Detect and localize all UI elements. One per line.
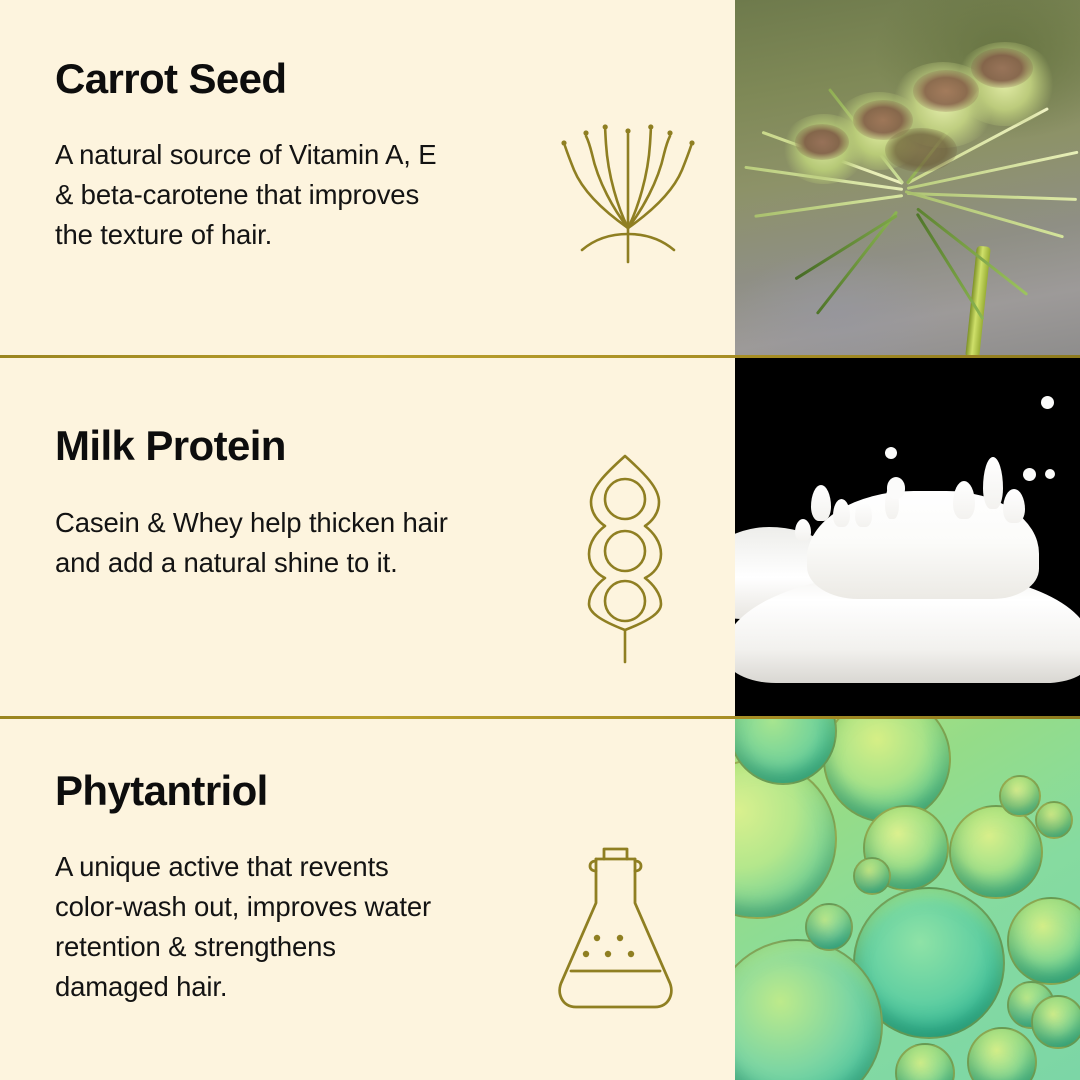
copy-block-milk-protein: Milk Protein Casein & Whey help thicken … bbox=[55, 424, 515, 583]
ingredient-description-phytantriol: A unique active that revents color-wash … bbox=[55, 847, 515, 1007]
ingredient-description-carrot-seed: A natural source of Vitamin A, E & beta-… bbox=[55, 135, 515, 255]
copy-block-carrot-seed: Carrot Seed A natural source of Vitamin … bbox=[55, 57, 515, 255]
ingredient-section-carrot-seed: Carrot Seed A natural source of Vitamin … bbox=[0, 0, 1080, 356]
right-edge-accent bbox=[1076, 0, 1080, 1080]
copy-block-phytantriol: Phytantriol A unique active that revents… bbox=[55, 769, 515, 1007]
photo-cell-phytantriol bbox=[735, 717, 1080, 1080]
ingredients-infographic: Carrot Seed A natural source of Vitamin … bbox=[0, 0, 1080, 1080]
photo-cell-carrot-seed bbox=[735, 0, 1080, 356]
section-divider-1 bbox=[0, 355, 1080, 358]
ingredient-description-milk-protein: Casein & Whey help thicken hair and add … bbox=[55, 503, 515, 583]
section-divider-2 bbox=[0, 716, 1080, 719]
erlenmeyer-flask-icon bbox=[548, 841, 683, 1021]
green-bubbles-photo bbox=[735, 717, 1080, 1080]
wild-carrot-flower-photo bbox=[735, 0, 1080, 356]
ingredient-title-carrot-seed: Carrot Seed bbox=[55, 57, 515, 101]
text-panel-milk-protein: Milk Protein Casein & Whey help thicken … bbox=[0, 356, 735, 717]
pea-pod-icon bbox=[565, 448, 685, 633]
ingredient-section-phytantriol: Phytantriol A unique active that revents… bbox=[0, 717, 1080, 1080]
ingredient-title-phytantriol: Phytantriol bbox=[55, 769, 515, 813]
ingredient-title-milk-protein: Milk Protein bbox=[55, 424, 515, 468]
photo-cell-milk-protein bbox=[735, 356, 1080, 717]
ingredient-section-milk-protein: Milk Protein Casein & Whey help thicken … bbox=[0, 356, 1080, 717]
flower-head bbox=[757, 32, 1075, 262]
milk-splash-photo bbox=[735, 356, 1080, 717]
text-panel-phytantriol: Phytantriol A unique active that revents… bbox=[0, 717, 735, 1080]
umbel-flower-icon bbox=[548, 110, 708, 275]
text-panel-carrot-seed: Carrot Seed A natural source of Vitamin … bbox=[0, 0, 735, 356]
